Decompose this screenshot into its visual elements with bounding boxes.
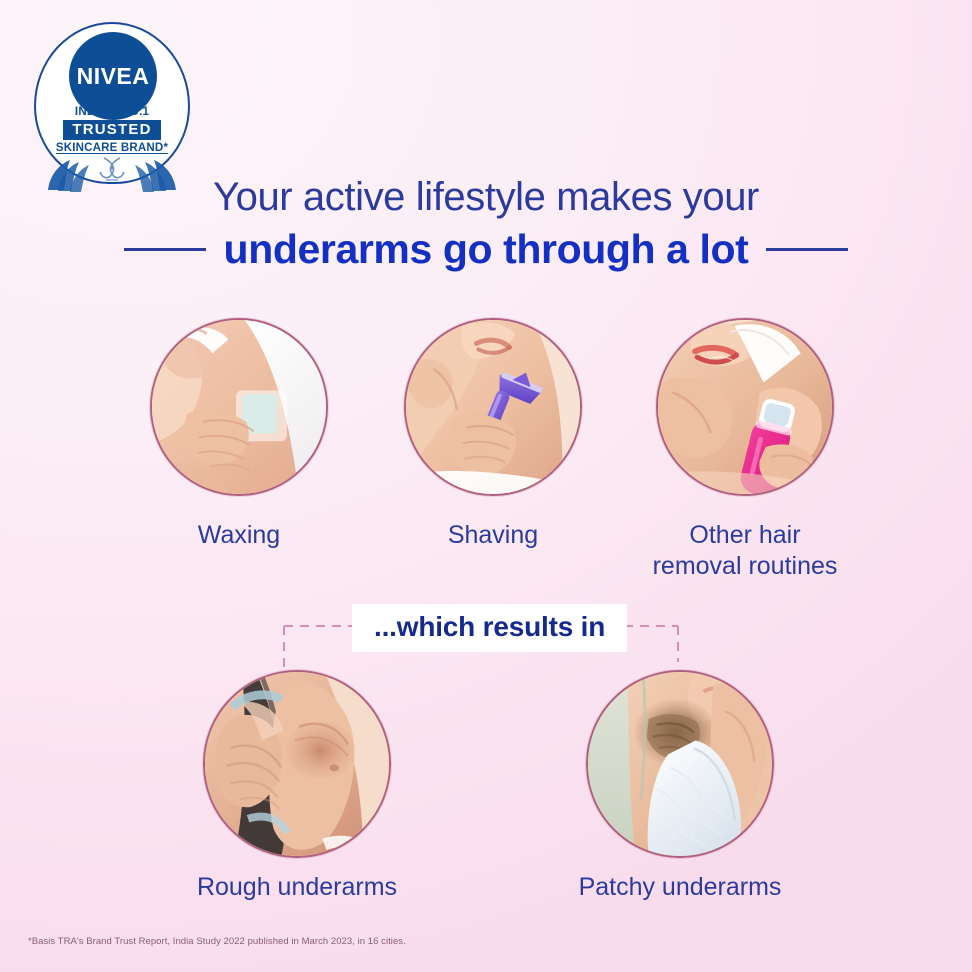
nivea-trust-badge: NIVEA INDIA'S NO.1 TRUSTED SKINCARE BRAN… (28, 14, 196, 194)
poster-canvas: NIVEA INDIA'S NO.1 TRUSTED SKINCARE BRAN… (0, 0, 972, 972)
headline-line-2: underarms go through a lot (224, 224, 749, 274)
cause-photo-shaving (404, 318, 582, 496)
caption-patchy-underarms: Patchy underarms (540, 872, 820, 903)
patchy-dark-underarm-photo (588, 672, 772, 856)
cause-photo-waxing (150, 318, 328, 496)
badge-line-skincare-brand: SKINCARE BRAND* (28, 142, 196, 154)
nivea-wordmark: NIVEA (77, 63, 150, 90)
caption-waxing: Waxing (99, 520, 379, 551)
results-banner-text: ...which results in (374, 611, 605, 643)
epilator-hair-removal-photo (658, 320, 832, 494)
result-photo-patchy-underarms (586, 670, 774, 858)
headline-line-1: Your active lifestyle makes your (0, 172, 972, 222)
footnote-disclaimer: *Basis TRA's Brand Trust Report, India S… (28, 936, 406, 947)
headline-block: Your active lifestyle makes your underar… (0, 172, 972, 274)
headline-line-2-row: underarms go through a lot (0, 224, 972, 274)
waxing-strip-on-underarm-photo (152, 320, 326, 494)
badge-trusted-wrap: TRUSTED (28, 120, 196, 140)
caption-other-hair-removal: Other hair removal routines (605, 520, 885, 582)
rough-underarm-skin-photo (205, 672, 389, 856)
result-photo-rough-underarms (203, 670, 391, 858)
badge-trusted-chip: TRUSTED (63, 120, 160, 140)
headline-rule-right (766, 248, 848, 251)
razor-shaving-underarm-photo (406, 320, 580, 494)
cause-photo-other-hair-removal (656, 318, 834, 496)
caption-shaving: Shaving (353, 520, 633, 551)
caption-other-line-2: removal routines (605, 551, 885, 582)
badge-line-indias-no1: INDIA'S NO.1 (28, 106, 196, 118)
results-banner: ...which results in (352, 604, 627, 652)
caption-other-line-1: Other hair (605, 520, 885, 551)
headline-rule-left (124, 248, 206, 251)
caption-rough-underarms: Rough underarms (157, 872, 437, 903)
